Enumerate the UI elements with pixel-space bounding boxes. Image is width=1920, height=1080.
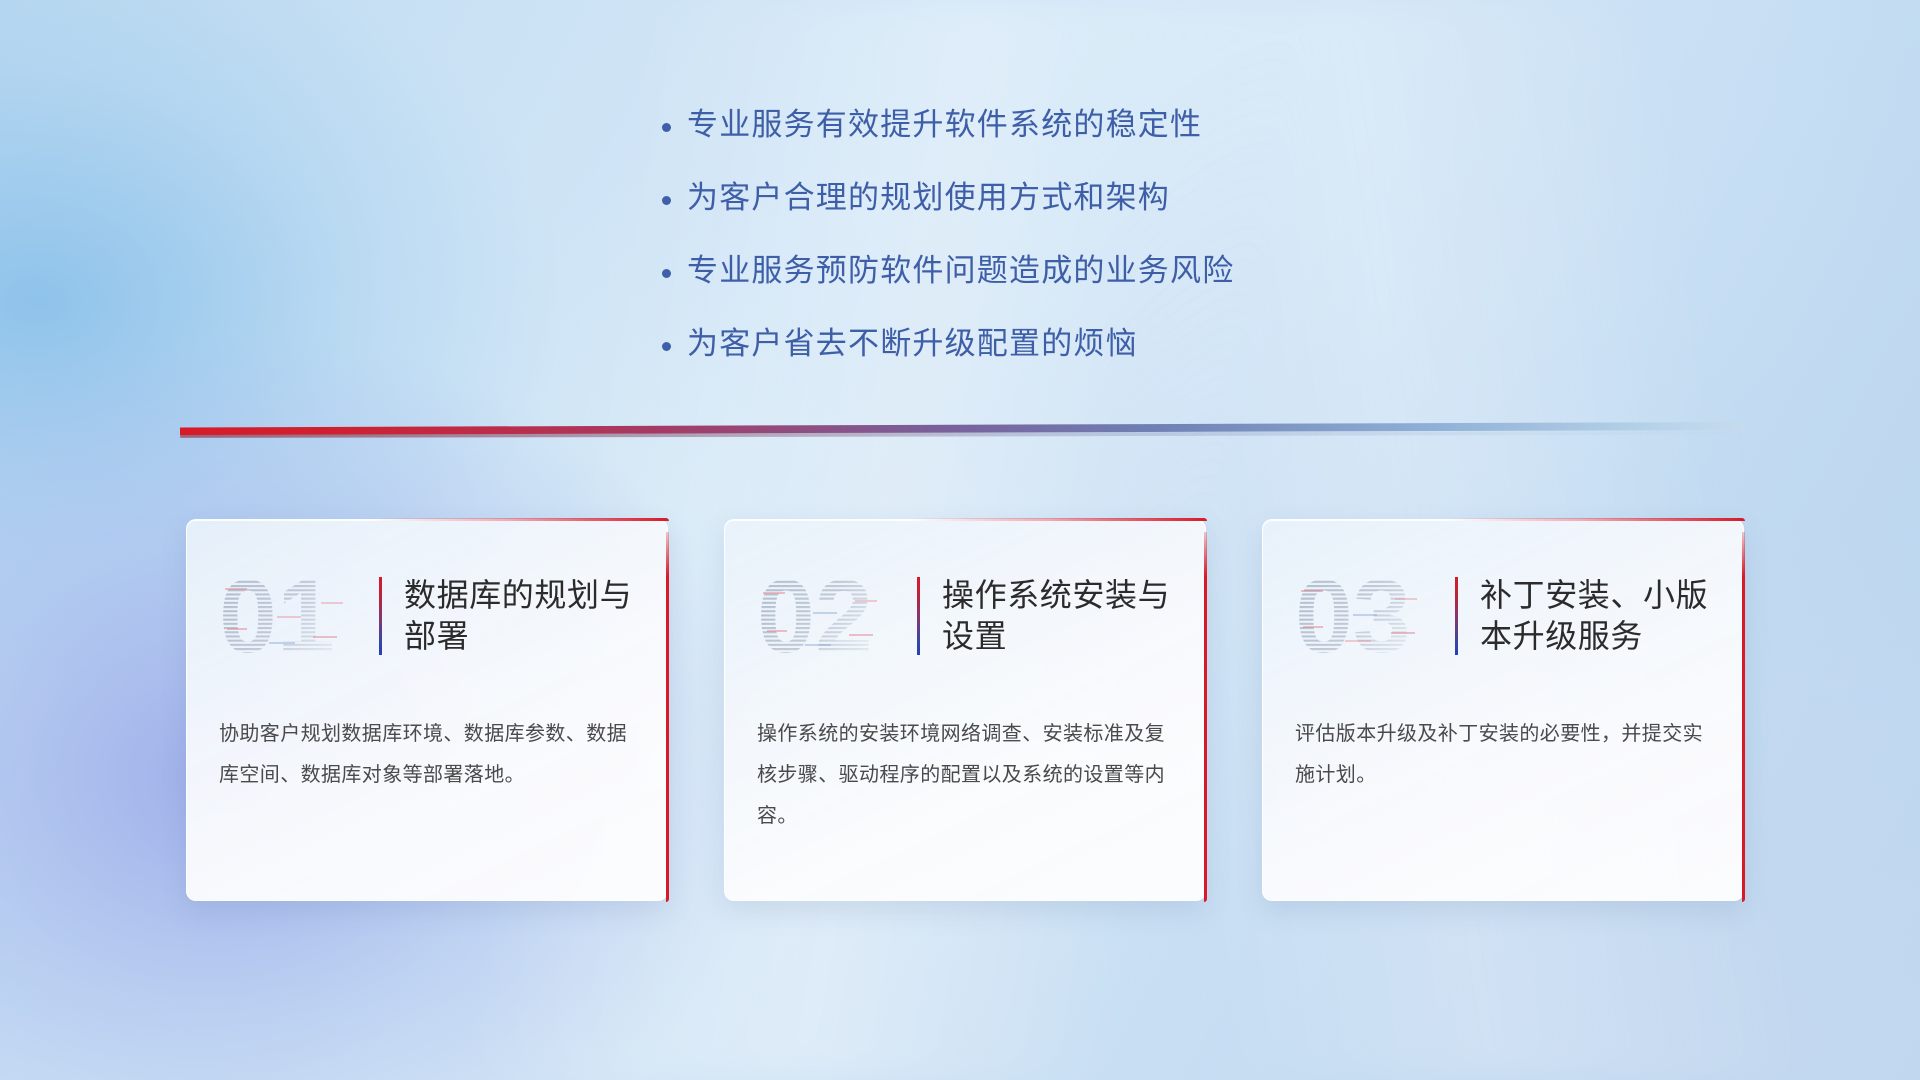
- list-item: 为客户省去不断升级配置的烦恼: [660, 323, 1500, 365]
- list-item: 专业服务预防软件问题造成的业务风险: [660, 250, 1500, 292]
- card-header: 03 补丁安装、小版本升级服务: [1263, 520, 1743, 670]
- slide-canvas: 专业服务有效提升软件系统的稳定性 为客户合理的规划使用方式和架构 专业服务预防软…: [0, 0, 1920, 1080]
- feature-card[interactable]: 02 操作系统安装与设置 操作系统的安装环: [724, 519, 1206, 901]
- bullet-list: 专业服务有效提升软件系统的稳定性 为客户合理的规划使用方式和架构 专业服务预防软…: [660, 104, 1500, 395]
- feature-card-row: 01 数据库的规划与部署 协助客户规划数据: [186, 519, 1746, 911]
- card-number-02-icon: 02: [755, 564, 903, 668]
- svg-text:03: 03: [1295, 564, 1411, 668]
- bullet-text: 为客户省去不断升级配置的烦恼: [687, 323, 1138, 365]
- card-title: 操作系统安装与设置: [942, 575, 1175, 657]
- bullet-text: 专业服务预防软件问题造成的业务风险: [687, 250, 1234, 292]
- svg-text:02: 02: [757, 564, 873, 668]
- feature-card[interactable]: 01 数据库的规划与部署 协助客户规划数据: [186, 519, 668, 901]
- bullet-text: 专业服务有效提升软件系统的稳定性: [687, 104, 1202, 146]
- list-item: 专业服务有效提升软件系统的稳定性: [660, 104, 1500, 146]
- card-body-text: 评估版本升级及补丁安装的必要性，并提交实施计划。: [1263, 670, 1743, 796]
- card-title: 补丁安装、小版本升级服务: [1480, 575, 1713, 657]
- bullet-dot-icon: [662, 196, 671, 205]
- card-body-text: 协助客户规划数据库环境、数据库参数、数据库空间、数据库对象等部署落地。: [187, 670, 667, 796]
- svg-text:01: 01: [219, 564, 335, 668]
- card-title-rule: [1455, 577, 1458, 655]
- bullet-dot-icon: [662, 342, 671, 351]
- card-number-01-icon: 01: [217, 564, 365, 668]
- bullet-dot-icon: [662, 269, 671, 278]
- bullet-dot-icon: [662, 123, 671, 132]
- bullet-text: 为客户合理的规划使用方式和架构: [687, 177, 1170, 219]
- card-title: 数据库的规划与部署: [404, 575, 637, 657]
- card-header: 01 数据库的规划与部署: [187, 520, 667, 670]
- list-item: 为客户合理的规划使用方式和架构: [660, 177, 1500, 219]
- feature-card[interactable]: 03 补丁安装、小版本升级服务 评估版本升: [1262, 519, 1744, 901]
- card-title-rule: [917, 577, 920, 655]
- card-title-rule: [379, 577, 382, 655]
- card-number-03-icon: 03: [1293, 564, 1441, 668]
- card-header: 02 操作系统安装与设置: [725, 520, 1205, 670]
- section-divider: [180, 418, 1745, 444]
- card-body-text: 操作系统的安装环境网络调查、安装标准及复核步骤、驱动程序的配置以及系统的设置等内…: [725, 670, 1205, 837]
